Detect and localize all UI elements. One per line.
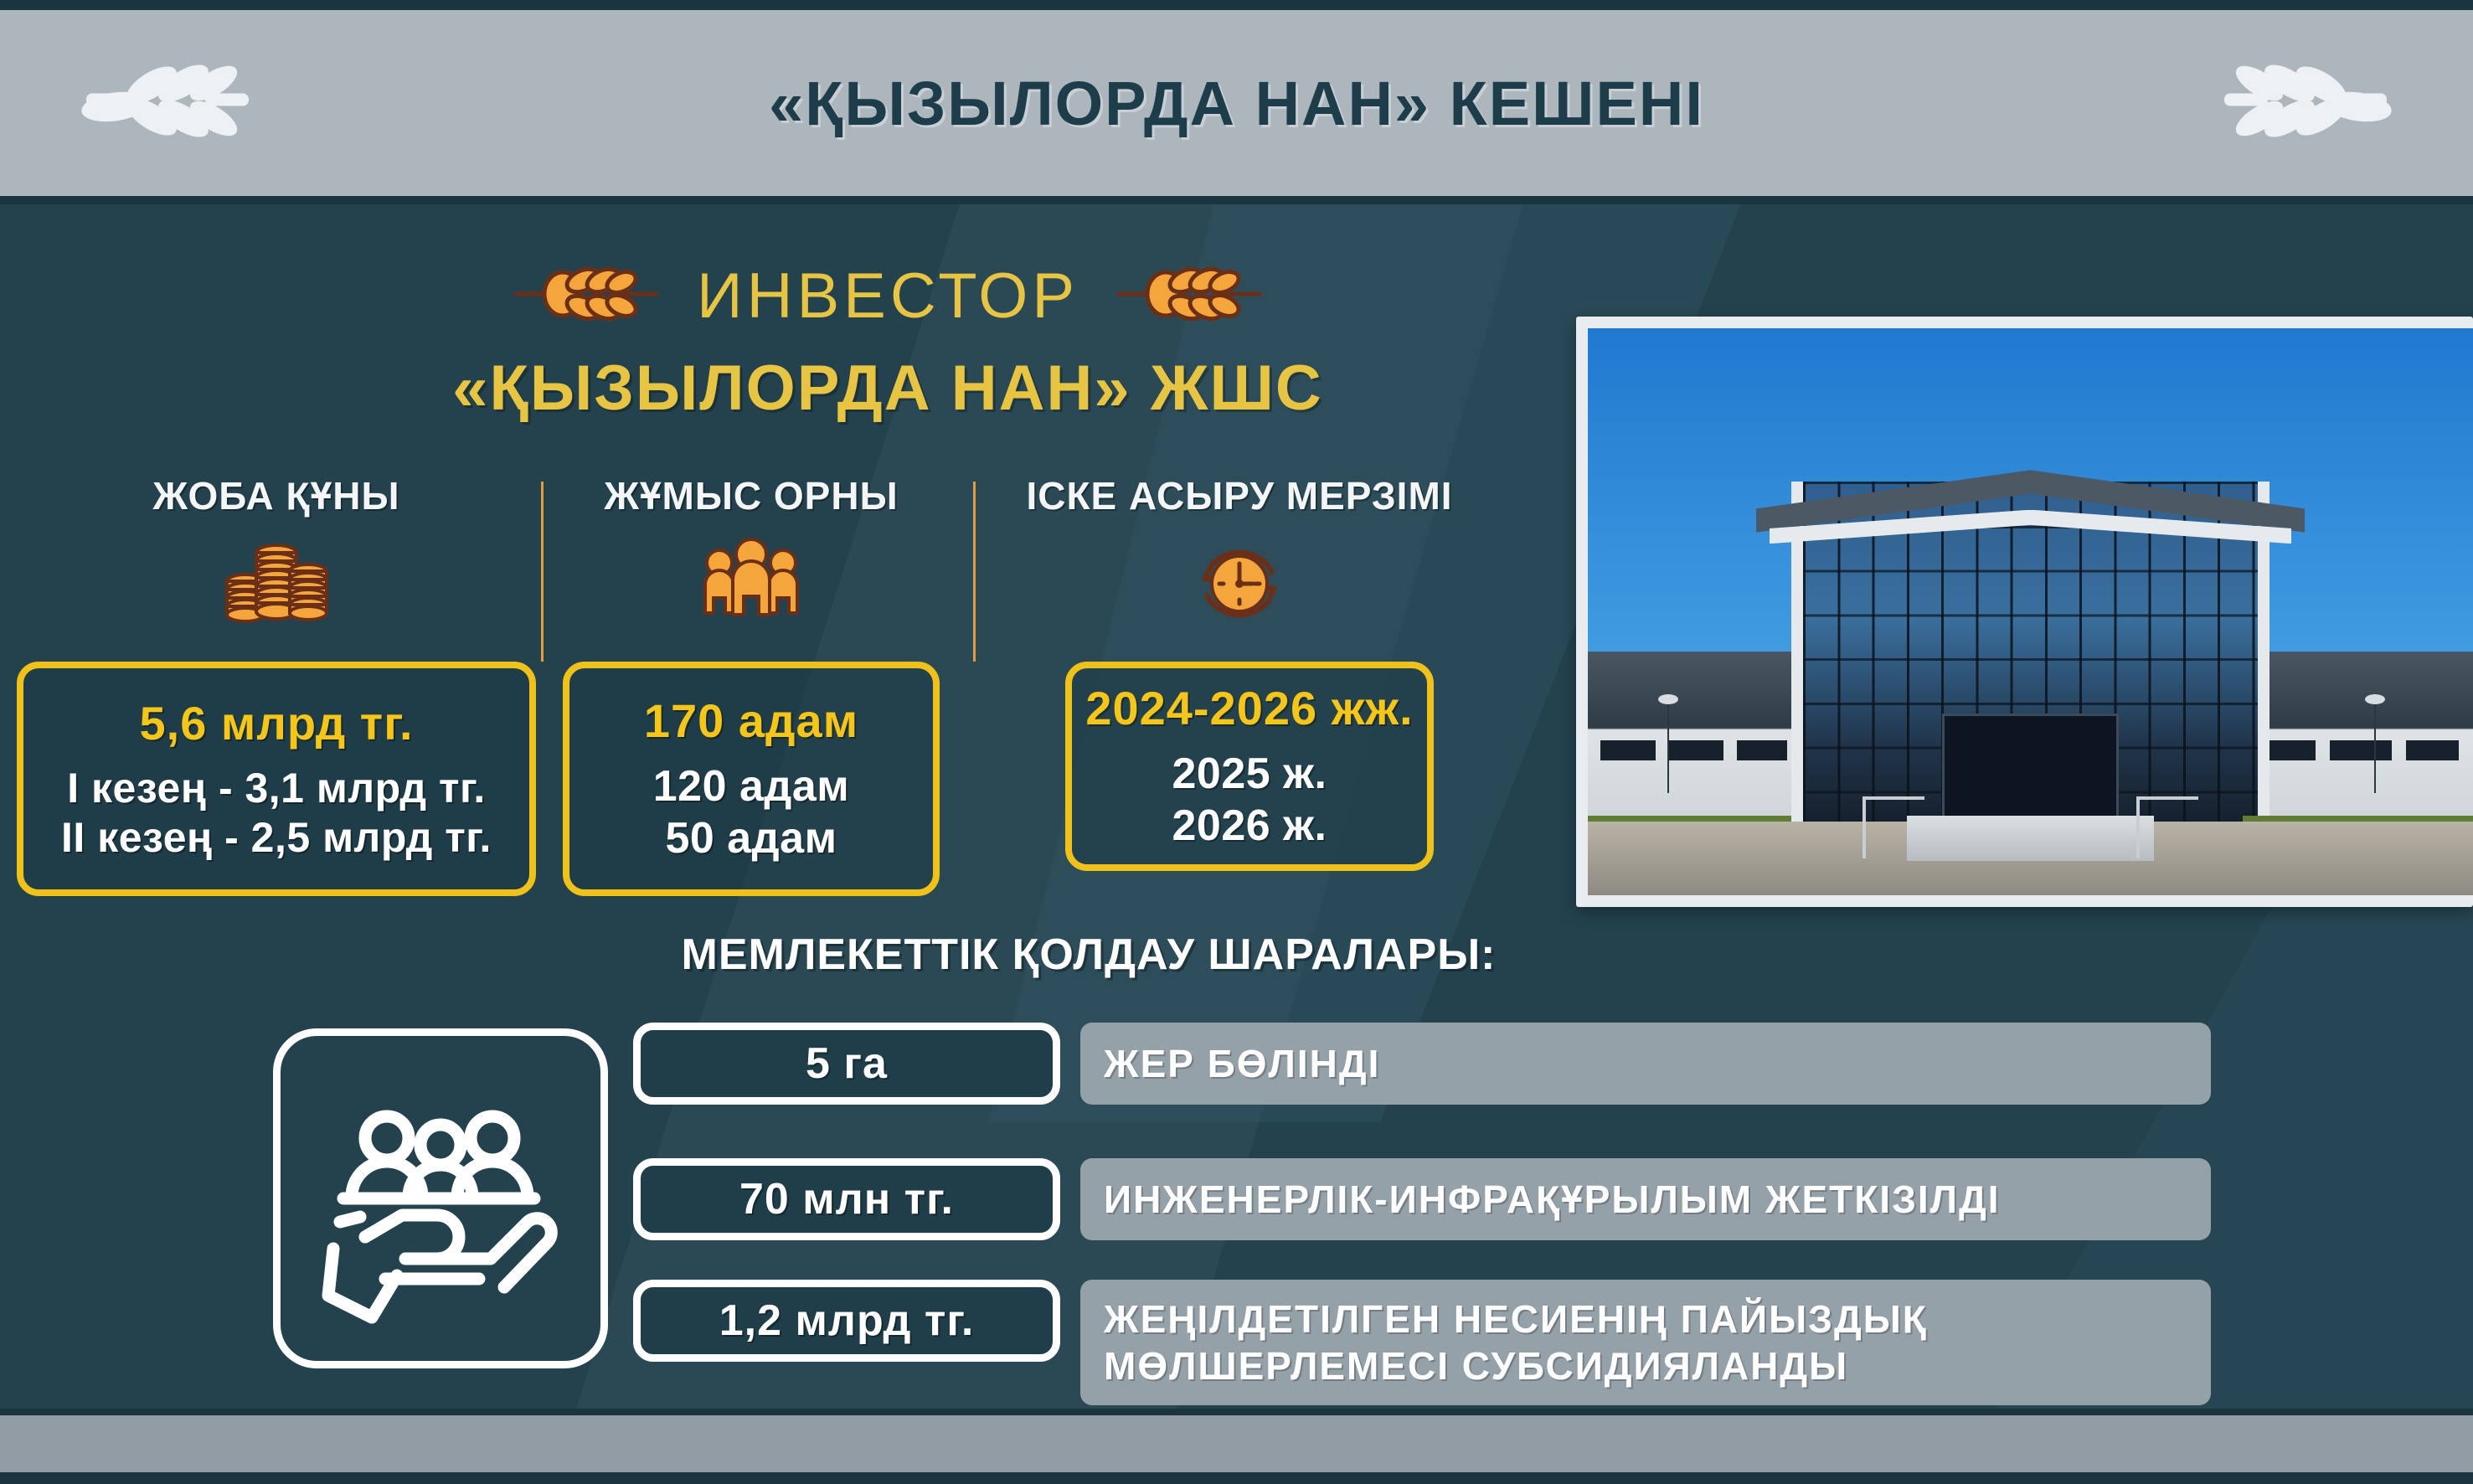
measure-amount: 5 га [633, 1023, 1060, 1105]
top-rule [0, 0, 2473, 10]
stat-box-timeline: 2024-2026 жж. 2025 ж. 2026 ж. [1065, 662, 1434, 871]
investor-label-row: ИНВЕСТОР [419, 255, 1357, 336]
footer-bar [0, 1415, 2473, 1472]
wheat-ear-icon [511, 259, 662, 333]
footer-rule-top [0, 1409, 2473, 1415]
stat-header-label: ЖОБА ҚҰНЫ [17, 473, 536, 518]
stat-main-value: 170 адам [644, 693, 858, 748]
wheat-stalk-icon [2218, 55, 2393, 152]
stat-sub-value: II кезең - 2,5 млрд тг. [61, 813, 492, 863]
stat-column-project-cost: ЖОБА ҚҰНЫ [17, 473, 536, 634]
entrance-steps [1907, 816, 2155, 861]
stat-sub-value: I кезең - 3,1 млрд тг. [67, 764, 486, 813]
page-title: «ҚЫЗЫЛОРДА НАН» КЕШЕНІ [769, 68, 1704, 139]
right-wing-building [2234, 652, 2473, 822]
three-people-icon [563, 533, 940, 634]
hand-holding-people-icon [273, 1028, 608, 1368]
stat-main-value: 2024-2026 жж. [1085, 681, 1413, 735]
street-lamp-left [1667, 703, 1669, 793]
header-bar: «ҚЫЗЫЛОРДА НАН» КЕШЕНІ [0, 10, 2473, 196]
stat-box-project-cost: 5,6 млрд тг. I кезең - 3,1 млрд тг. II к… [17, 662, 536, 896]
street-lamp-right [2374, 703, 2376, 793]
support-measure-row: 70 млн тг. ИНЖЕНЕРЛІК-ИНФРАҚҰРЫЛЫМ ЖЕТКІ… [633, 1158, 2211, 1240]
measure-description: ЖЕҢІЛДЕТІЛГЕН НЕСИЕНІҢ ПАЙЫЗДЫҚ МӨЛШЕРЛЕ… [1080, 1280, 2211, 1405]
stat-sub-value: 2025 ж. [1172, 749, 1327, 800]
stat-column-jobs: ЖҰМЫС ОРНЫ [563, 473, 940, 634]
support-measure-row: 5 га ЖЕР БӨЛІНДІ [633, 1023, 2211, 1105]
stat-header-label: ІСКЕ АСЫРУ МЕРЗІМІ [988, 473, 1491, 518]
measure-description-line2: МӨЛШЕРЛЕМЕСІ СУБСИДИЯЛАНДЫ [1104, 1342, 1928, 1389]
building-photo [1588, 328, 2473, 895]
investor-name: «ҚЫЗЫЛОРДА НАН» ЖШС [335, 352, 1440, 425]
infographic-slide: «ҚЫЗЫЛОРДА НАН» КЕШЕНІ [0, 0, 2473, 1484]
left-wing-building [1588, 652, 1801, 822]
handrail-right [2136, 796, 2198, 858]
wheat-ear-icon [1114, 259, 1265, 333]
measure-amount: 70 млн тг. [633, 1158, 1060, 1240]
investor-label: ИНВЕСТОР [697, 260, 1079, 332]
header-bottom-rule [0, 196, 2473, 204]
stat-divider [973, 482, 976, 662]
stat-sub-value: 120 адам [653, 761, 850, 812]
handrail-left [1862, 796, 1924, 858]
measure-description-line1: ЖЕҢІЛДЕТІЛГЕН НЕСИЕНІҢ ПАЙЫЗДЫҚ [1104, 1296, 1928, 1342]
stat-column-timeline: ІСКЕ АСЫРУ МЕРЗІМІ [988, 473, 1491, 634]
clock-cycle-icon [988, 533, 1491, 634]
stat-sub-value: 50 адам [665, 813, 837, 864]
wheat-stalk-icon [80, 55, 255, 152]
measure-description: ЖЕР БӨЛІНДІ [1080, 1023, 2211, 1105]
stat-main-value: 5,6 млрд тг. [139, 696, 413, 750]
stat-divider [541, 482, 544, 662]
support-measures-title: МЕМЛЕКЕТТІК ҚОЛДАУ ШАРАЛАРЫ: [586, 930, 1591, 980]
stat-header-label: ЖҰМЫС ОРНЫ [563, 473, 940, 518]
measure-description: ИНЖЕНЕРЛІК-ИНФРАҚҰРЫЛЫМ ЖЕТКІЗІЛДІ [1080, 1158, 2211, 1240]
measure-amount: 1,2 млрд тг. [633, 1280, 1060, 1362]
stat-box-jobs: 170 адам 120 адам 50 адам [563, 662, 940, 896]
coin-stacks-icon [17, 533, 536, 634]
footer-rule-bottom [0, 1472, 2473, 1484]
entrance-door [1942, 714, 2119, 822]
building-photo-frame [1576, 317, 2473, 907]
support-measure-row: 1,2 млрд тг. ЖЕҢІЛДЕТІЛГЕН НЕСИЕНІҢ ПАЙЫ… [633, 1280, 2211, 1405]
stat-sub-value: 2026 ж. [1172, 801, 1327, 852]
